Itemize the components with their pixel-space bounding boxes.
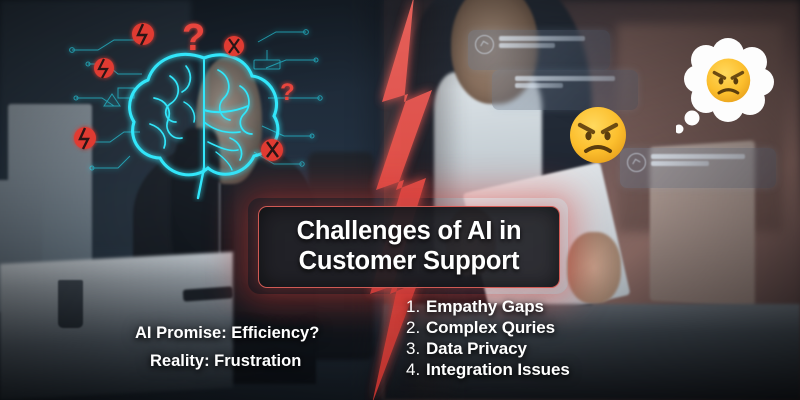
bubble-text-lines xyxy=(515,75,615,88)
bubble-text-lines xyxy=(651,153,745,166)
bubble-text-line xyxy=(515,76,615,81)
list-item-label: Data Privacy xyxy=(426,339,527,359)
list-item-number: 4. xyxy=(406,360,426,380)
thought-bubble-angry-emoji xyxy=(676,34,780,134)
chat-bubble-bottom xyxy=(620,148,776,188)
angry-face-emoji xyxy=(568,105,628,165)
caption-reality: Reality: Frustration xyxy=(150,352,301,371)
list-item: 2. Complex Quries xyxy=(406,318,570,338)
list-item-label: Integration Issues xyxy=(426,360,570,380)
coffee-cup xyxy=(58,280,83,328)
list-item-number: 2. xyxy=(406,318,426,338)
svg-text:?: ? xyxy=(280,79,295,106)
bubble-text-line xyxy=(651,154,745,159)
list-item-label: Complex Quries xyxy=(426,318,555,338)
list-item: 3. Data Privacy xyxy=(406,339,570,359)
title-line-1: Challenges of AI in xyxy=(297,217,522,247)
brain-hologram: ? ? xyxy=(58,2,348,202)
bubble-text-line xyxy=(651,161,709,166)
chat-avatar-icon xyxy=(627,153,646,172)
chat-bubble-top xyxy=(468,30,610,70)
infographic-banner: ? ? xyxy=(0,0,800,400)
bubble-text-line xyxy=(499,43,555,48)
chat-bubble-middle xyxy=(492,70,638,110)
list-item: 4. Integration Issues xyxy=(406,360,570,380)
list-item-label: Empathy Gaps xyxy=(426,297,544,317)
list-item-number: 3. xyxy=(406,339,426,359)
bubble-text-lines xyxy=(499,35,585,48)
caption-ai-promise: AI Promise: Efficiency? xyxy=(135,324,319,343)
page-title: Challenges of AI in Customer Support xyxy=(258,206,560,288)
list-item: 1. Empathy Gaps xyxy=(406,297,570,317)
challenges-list: 1. Empathy Gaps 2. Complex Quries 3. Dat… xyxy=(406,297,570,380)
list-item-number: 1. xyxy=(406,297,426,317)
title-line-2: Customer Support xyxy=(299,247,520,277)
loading-spinner-icon xyxy=(475,35,494,54)
bubble-text-line xyxy=(515,83,563,88)
bubble-text-line xyxy=(499,36,585,41)
svg-text:?: ? xyxy=(182,17,205,59)
customer-hand-right xyxy=(567,232,621,304)
